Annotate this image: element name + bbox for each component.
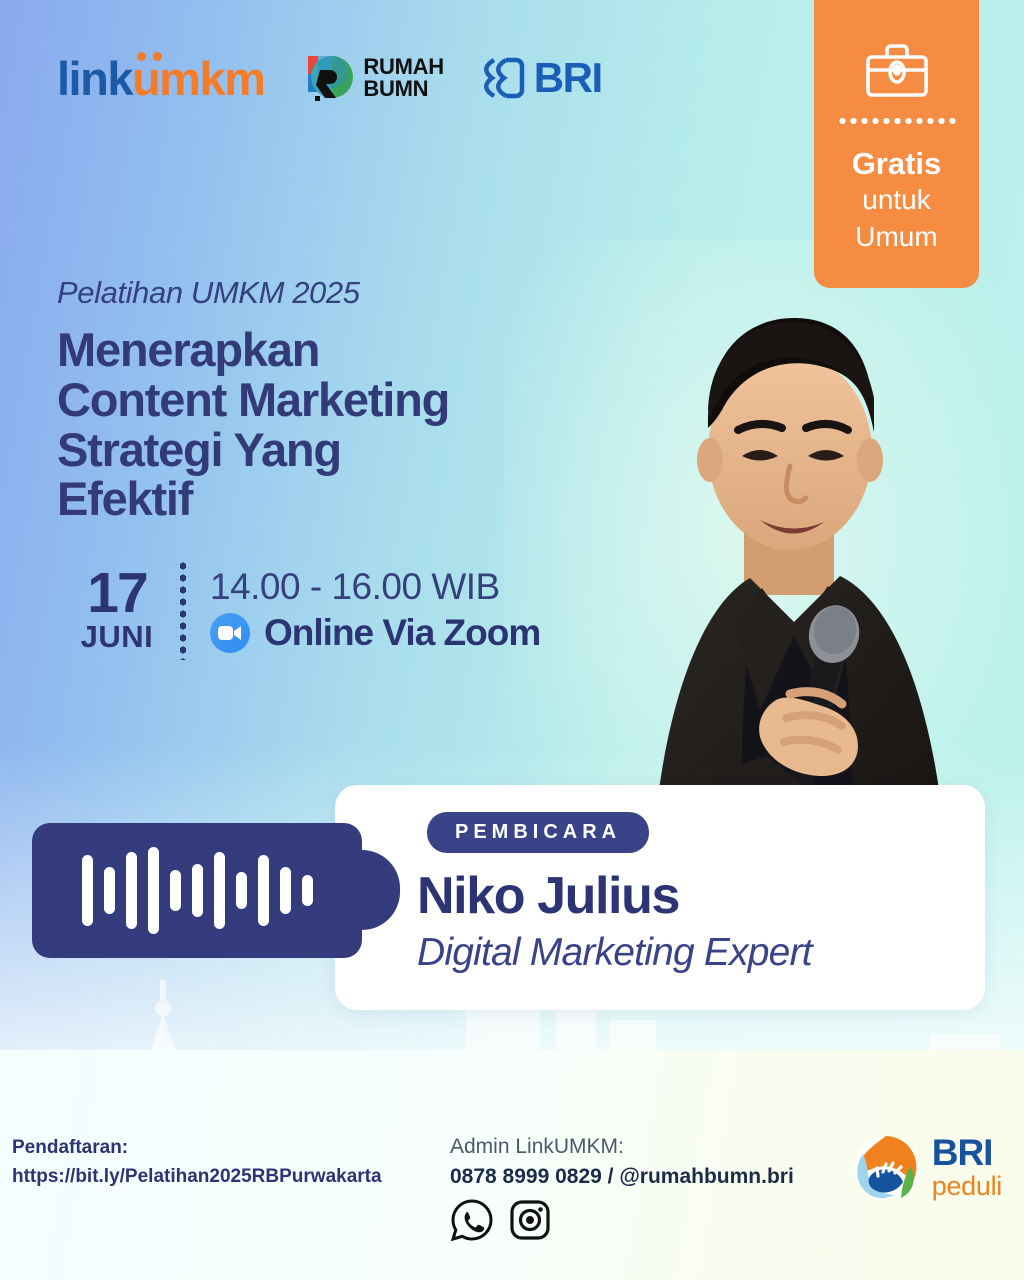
rumah-bumn-text: RUMAH BUMN bbox=[363, 56, 443, 101]
briefcase-icon bbox=[864, 42, 930, 98]
event-time: 14.00 - 16.00 WIB bbox=[210, 568, 540, 605]
social-links bbox=[450, 1198, 552, 1242]
logo-linkumkm-umkm: umkm bbox=[132, 55, 264, 102]
bri-peduli-text: BRI peduli bbox=[932, 1134, 1002, 1200]
waveform-bar bbox=[170, 870, 181, 910]
waveform-bar bbox=[258, 855, 269, 926]
badge-gratis-label: Gratis bbox=[852, 148, 942, 179]
poster-footer: Pendaftaran: https://bit.ly/Pelatihan202… bbox=[0, 1120, 1024, 1280]
event-day: 17 bbox=[62, 566, 172, 620]
badge-untuk-label: untuk bbox=[862, 183, 931, 216]
bri-peduli-mark-icon bbox=[853, 1132, 923, 1202]
partner-logos: link umkm RUMAH BUMN BRI bbox=[57, 52, 602, 104]
logo-linkumkm: link umkm bbox=[57, 55, 264, 102]
waveform-bar bbox=[148, 847, 159, 934]
logo-bri: BRI bbox=[482, 56, 602, 100]
whatsapp-icon[interactable] bbox=[450, 1198, 494, 1242]
rumah-bumn-line2: BUMN bbox=[363, 78, 443, 100]
bri-peduli-peduli: peduli bbox=[932, 1173, 1002, 1200]
bri-peduli-bri: BRI bbox=[932, 1134, 1002, 1171]
instagram-icon[interactable] bbox=[508, 1198, 552, 1242]
rumah-bumn-line1: RUMAH bbox=[363, 56, 443, 78]
waveform-bar bbox=[82, 855, 93, 926]
event-platform-row: Online Via Zoom bbox=[210, 613, 540, 653]
waveform-bar bbox=[280, 867, 291, 914]
waveform-bar bbox=[192, 864, 203, 917]
admin-contact-value[interactable]: 0878 8999 0829 / @rumahbumn.bri bbox=[450, 1162, 794, 1192]
logo-linkumkm-link: link bbox=[57, 55, 132, 102]
rumah-bumn-mark-icon bbox=[302, 52, 354, 104]
event-title: Menerapkan Content Marketing Strategi Ya… bbox=[57, 325, 617, 524]
event-kicker: Pelatihan UMKM 2025 bbox=[57, 275, 617, 311]
speaker-badge: PEMBICARA bbox=[427, 812, 649, 853]
badge-umum-label: Umum bbox=[855, 220, 937, 253]
waveform-bar bbox=[302, 875, 313, 906]
logo-linkumkm-dots bbox=[135, 52, 173, 62]
speaker-name: Niko Julius bbox=[417, 870, 679, 922]
registration-label: Pendaftaran: bbox=[12, 1134, 382, 1163]
title-line-3: Strategi Yang bbox=[57, 425, 617, 475]
event-date: 17 JUNI bbox=[62, 566, 172, 654]
zoom-video-icon bbox=[210, 613, 250, 653]
waveform-bar bbox=[214, 852, 225, 930]
waveform-bar bbox=[126, 852, 137, 930]
free-badge: Gratis untuk Umum bbox=[814, 0, 979, 288]
logo-bri-peduli: BRI peduli bbox=[853, 1132, 1002, 1202]
waveform-bar bbox=[104, 867, 115, 914]
waveform-badge bbox=[32, 823, 362, 958]
logo-rumah-bumn: RUMAH BUMN bbox=[302, 52, 443, 104]
speaker-role: Digital Marketing Expert bbox=[417, 933, 812, 972]
admin-contact-block: Admin LinkUMKM: 0878 8999 0829 / @rumahb… bbox=[450, 1132, 794, 1193]
event-platform: Online Via Zoom bbox=[264, 614, 540, 651]
bri-mark-icon bbox=[482, 56, 530, 100]
event-datetime: 17 JUNI 14.00 - 16.00 WIB Online Via Zoo… bbox=[62, 560, 540, 660]
event-details: 14.00 - 16.00 WIB Online Via Zoom bbox=[210, 568, 540, 653]
bri-text: BRI bbox=[534, 57, 602, 99]
title-line-2: Content Marketing bbox=[57, 375, 617, 425]
waveform-bar bbox=[236, 872, 247, 909]
speaker-card: PEMBICARA Niko Julius Digital Marketing … bbox=[335, 785, 985, 1010]
event-month: JUNI bbox=[62, 620, 172, 654]
registration-block: Pendaftaran: https://bit.ly/Pelatihan202… bbox=[12, 1134, 382, 1191]
admin-label: Admin LinkUMKM: bbox=[450, 1132, 794, 1162]
title-line-1: Menerapkan bbox=[57, 325, 617, 375]
vertical-dotted-divider bbox=[180, 560, 186, 660]
title-line-4: Efektif bbox=[57, 474, 617, 524]
badge-dotted-divider bbox=[837, 118, 957, 124]
headline-block: Pelatihan UMKM 2025 Menerapkan Content M… bbox=[57, 275, 617, 524]
registration-url[interactable]: https://bit.ly/Pelatihan2025RBPurwakarta bbox=[12, 1163, 382, 1192]
